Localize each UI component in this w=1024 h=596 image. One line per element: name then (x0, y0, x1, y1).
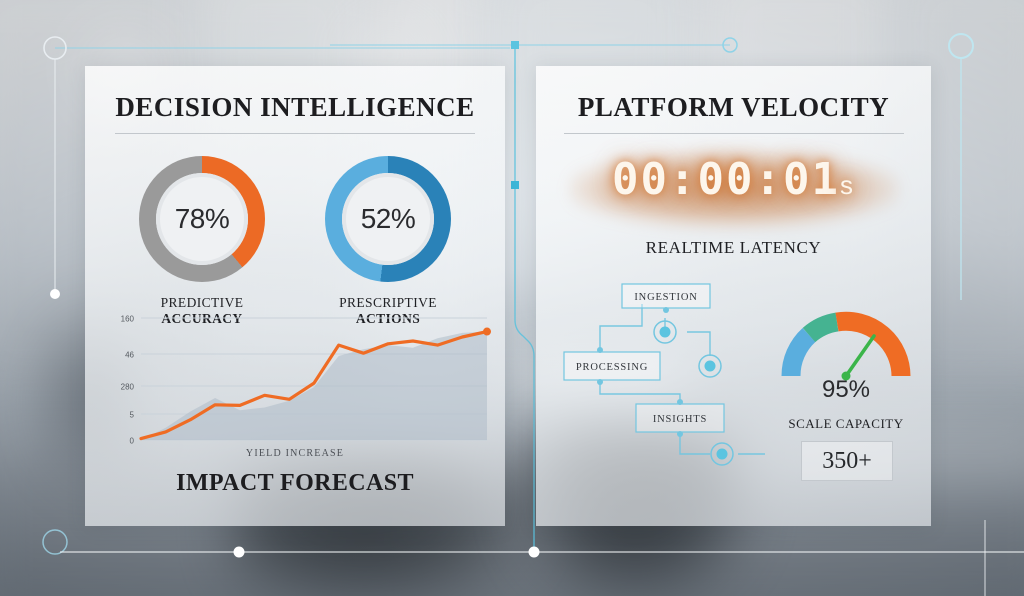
pipeline-flow-diagram[interactable]: INGESTION PROCESSING INSIGHTS (560, 274, 780, 484)
panel-decision-intelligence: DECISION INTELLIGENCE 78% PREDICTIVE ACC… (85, 66, 505, 526)
scale-capacity-label: SCALE CAPACITY (776, 416, 916, 432)
flow-port-processing-bottom (597, 379, 603, 385)
panel-platform-velocity: PLATFORM VELOCITY 00:00:01s REALTIME LAT… (536, 66, 931, 526)
scale-capacity-value: 350+ (822, 448, 872, 475)
flow-node-ingestion[interactable]: INGESTION (622, 284, 710, 313)
donut-chart-accuracy: 78% (139, 156, 265, 282)
title-divider-left (115, 133, 475, 134)
gauge-segment-mid (809, 322, 837, 335)
donut-label-accuracy-part1: PREDICTIVE (161, 295, 244, 310)
scale-capacity-gauge[interactable] (781, 296, 911, 386)
gauge-segment-high (837, 321, 901, 376)
donut-chart-actions: 52% (325, 156, 451, 282)
chart-endpoint-marker (483, 328, 491, 336)
flow-node-circle-3-core (717, 449, 728, 460)
donut-center-accuracy: 78% (156, 173, 248, 265)
flow-node-insights[interactable]: INSIGHTS (636, 399, 724, 437)
metric-prescriptive-actions[interactable]: 52% PRESCRIPTIVE ACTIONS (317, 156, 459, 327)
flow-junction-nodes (654, 321, 733, 465)
flow-port-insights-bottom (677, 431, 683, 437)
flow-label-insights: INSIGHTS (653, 414, 707, 425)
donut-center-actions: 52% (342, 173, 434, 265)
chart-y-tick: 0 (130, 437, 135, 446)
flow-port-insights-top (677, 399, 683, 405)
timer-readout: 00:00:01s (536, 154, 931, 205)
gauge-needle (846, 336, 874, 376)
flow-label-processing: PROCESSING (576, 362, 648, 373)
flow-node-circle-2-core (705, 361, 716, 372)
flow-node-processing[interactable]: PROCESSING (564, 347, 660, 385)
chart-y-tick: 280 (121, 383, 135, 392)
donut-row: 78% PREDICTIVE ACCURACY 52% PRESCRIPTIVE… (85, 156, 505, 327)
chart-title: IMPACT FORECAST (85, 470, 505, 497)
timer-value: 00:00:01 (612, 154, 840, 205)
flow-port-ingestion-bottom (663, 307, 669, 313)
chart-x-axis-label: YIELD INCREASE (85, 448, 505, 459)
impact-forecast-chart[interactable]: 0528046160 (99, 310, 491, 470)
chart-y-tick: 5 (130, 411, 135, 420)
gauge-segment-low (791, 335, 809, 376)
donut-label-actions-part1: PRESCRIPTIVE (339, 295, 437, 310)
page-title-right: PLATFORM VELOCITY (536, 66, 931, 123)
chart-y-axis-labels: 0528046160 (121, 315, 135, 446)
page-title-left: DECISION INTELLIGENCE (85, 66, 505, 123)
flow-node-circle-1-core (660, 327, 671, 338)
flow-port-processing-top (597, 347, 603, 353)
chart-y-tick: 160 (121, 315, 135, 324)
donut-value-actions: 52% (361, 203, 416, 235)
flow-label-ingestion: INGESTION (634, 292, 697, 303)
metric-predictive-accuracy[interactable]: 78% PREDICTIVE ACCURACY (131, 156, 273, 327)
donut-value-accuracy: 78% (175, 203, 230, 235)
chart-y-tick: 46 (125, 351, 134, 360)
latency-timer: 00:00:01s (536, 154, 931, 224)
title-divider-right (564, 133, 904, 134)
timer-unit: s (840, 170, 855, 200)
gauge-value: 95% (781, 376, 911, 404)
timer-label: REALTIME LATENCY (536, 238, 931, 258)
scale-capacity-value-box[interactable]: 350+ (801, 441, 893, 481)
